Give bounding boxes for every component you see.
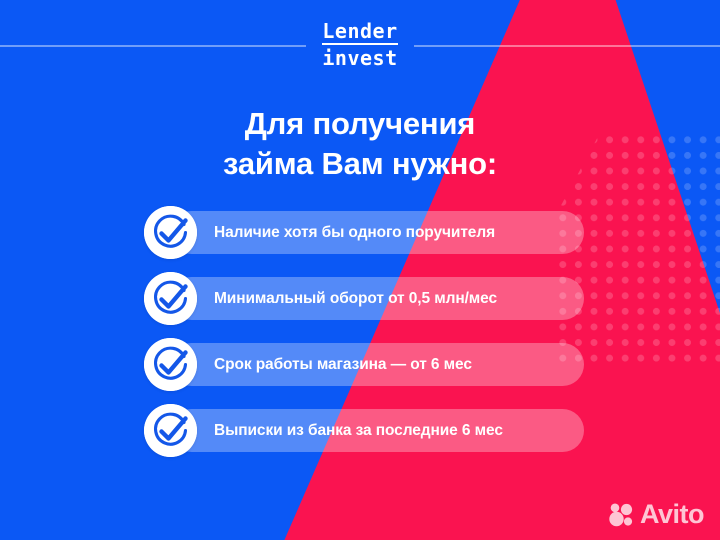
- requirement-label: Выписки из банка за последние 6 мес: [214, 409, 503, 452]
- headline-line-1: Для получения: [120, 104, 600, 144]
- header-divider: [0, 45, 720, 47]
- list-item: Наличие хотя бы одного поручителя: [144, 206, 584, 259]
- page-title: Для получения займа Вам нужно:: [0, 104, 720, 183]
- list-item: Срок работы магазина — от 6 мес: [144, 338, 584, 391]
- requirements-list: Наличие хотя бы одного поручителя Минима…: [144, 206, 584, 470]
- requirement-label: Минимальный оборот от 0,5 млн/мес: [214, 277, 497, 320]
- list-item: Минимальный оборот от 0,5 млн/мес: [144, 272, 584, 325]
- check-circle-icon: [144, 272, 197, 325]
- check-circle-icon: [144, 206, 197, 259]
- requirement-label: Наличие хотя бы одного поручителя: [214, 211, 495, 254]
- check-circle-icon: [144, 404, 197, 457]
- promo-poster: Lender invest Для получения займа Вам ну…: [0, 0, 720, 540]
- requirement-label: Срок работы магазина — от 6 мес: [214, 343, 472, 386]
- check-circle-icon: [144, 338, 197, 391]
- list-item: Выписки из банка за последние 6 мес: [144, 404, 584, 457]
- headline-line-2: займа Вам нужно:: [120, 144, 600, 184]
